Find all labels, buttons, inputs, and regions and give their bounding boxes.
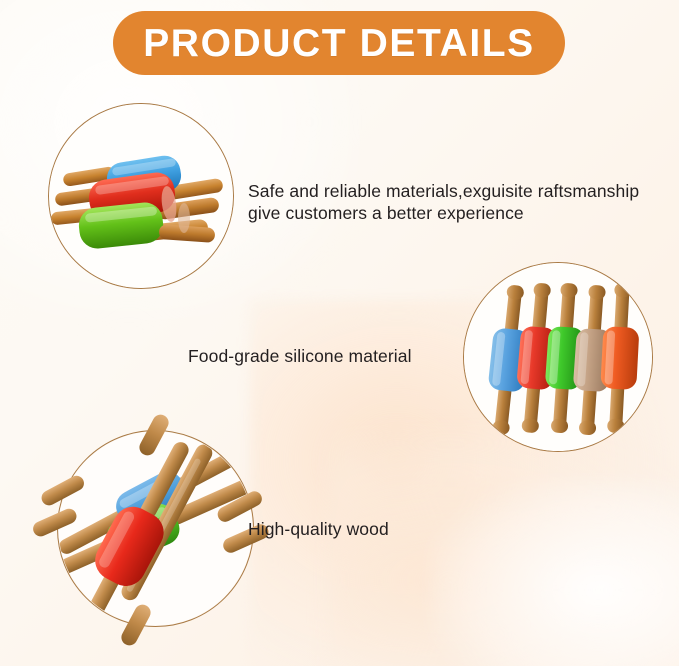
product-details-banner: PRODUCT DETAILS: [113, 11, 565, 75]
feature-caption-wood: High-quality wood: [248, 518, 508, 540]
row-of-rolling-pins-artwork: [464, 263, 652, 451]
feature-caption-silicone: Food-grade silicone material: [188, 345, 488, 367]
row-of-rolling-pins-photo: [463, 262, 653, 452]
stacked-rolling-pins-artwork: [49, 104, 233, 288]
stacked-rolling-pins-photo: [48, 103, 234, 289]
page-title: PRODUCT DETAILS: [143, 24, 535, 63]
diagonal-rolling-pins-artwork: [58, 431, 253, 626]
rolling-pin-orange: [598, 282, 642, 434]
feature-caption-materials: Safe and reliable materials,exguisite ra…: [248, 180, 673, 225]
diagonal-rolling-pins-photo: [57, 430, 254, 627]
background-highlight-right: [430, 480, 679, 666]
infographic-canvas: PRODUCT DETAILS: [0, 0, 679, 666]
